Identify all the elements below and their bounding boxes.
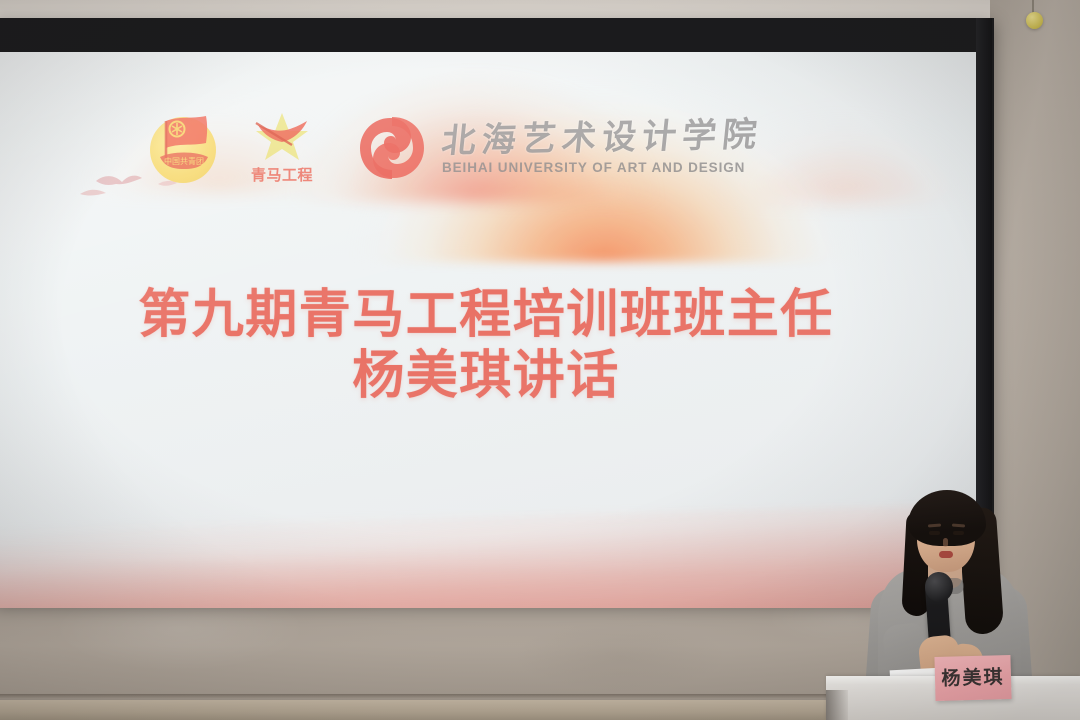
university-name-cn: 北海艺术设计学院 — [440, 117, 764, 159]
speaker-eye-left — [929, 531, 940, 535]
svg-text:中国共青团: 中国共青团 — [164, 156, 204, 166]
qingma-label: 青马工程 — [244, 164, 320, 185]
communist-youth-league-emblem-icon: 中国共青团 — [144, 107, 226, 189]
university-swirl-icon — [356, 112, 428, 184]
slide-logo-row: 中国共青团 青马工程 — [144, 107, 762, 189]
speaker-nose — [943, 538, 948, 547]
university-name-en: BEIHAI UNIVERSITY OF ART AND DESIGN — [442, 160, 762, 175]
slide-title: 第九期青马工程培训班班主任 杨美琪讲话 — [0, 284, 978, 407]
name-card: 杨美琪 — [934, 655, 1011, 701]
qingma-program-logo-icon: 青马工程 — [244, 107, 320, 189]
bottom-red-wave-band — [0, 503, 978, 608]
speaker-eye-right — [953, 531, 964, 535]
yellow-wall-lamp-icon — [1026, 12, 1043, 29]
name-card-text: 杨美琪 — [941, 668, 1004, 689]
projection-screen-frame: 中国共青团 青马工程 — [0, 18, 994, 603]
photo-scene: 中国共青团 青马工程 — [0, 0, 1080, 720]
slide-title-line-1: 第九期青马工程培训班班主任 — [0, 284, 978, 345]
speaker-mouth — [939, 551, 953, 558]
lectern-side-shadow — [826, 690, 848, 720]
beihai-university-logo: 北海艺术设计学院 BEIHAI UNIVERSITY OF ART AND DE… — [356, 112, 762, 184]
projection-screen: 中国共青团 青马工程 — [0, 52, 978, 608]
slide-title-line-2: 杨美琪讲话 — [0, 345, 978, 406]
